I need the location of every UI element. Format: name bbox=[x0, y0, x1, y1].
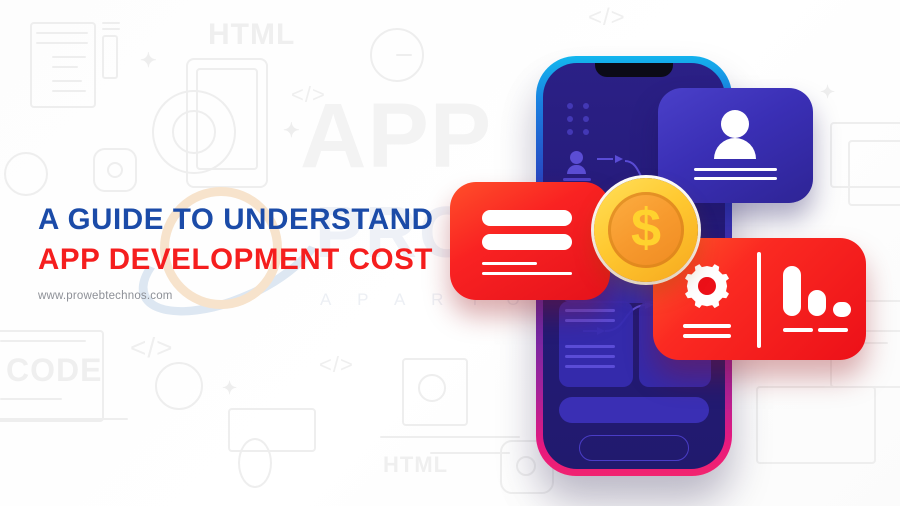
primary-button[interactable] bbox=[559, 397, 709, 423]
text-lines-icon bbox=[783, 328, 813, 332]
text-lines-icon bbox=[482, 234, 572, 250]
text-lines-icon bbox=[683, 324, 731, 328]
coin-inner-circle: $ bbox=[608, 192, 684, 268]
headline-line-primary: A GUIDE TO UNDERSTAND bbox=[38, 203, 478, 238]
banner-root: HTML CODE </> </> </> </> APP HTML bbox=[0, 0, 900, 506]
clock-icon bbox=[370, 28, 424, 82]
sparkle-icon: ✦ bbox=[222, 378, 238, 399]
text-lines-icon bbox=[818, 328, 848, 332]
code-text-icon: CODE bbox=[6, 352, 102, 389]
gear-icon bbox=[172, 110, 216, 154]
camera-icon bbox=[93, 148, 137, 192]
text-lines-icon bbox=[482, 272, 572, 275]
gear-icon bbox=[152, 90, 236, 174]
headline-block: A GUIDE TO UNDERSTAND APP DEVELOPMENT CO… bbox=[38, 203, 478, 302]
code-brackets-icon: </> bbox=[291, 82, 326, 108]
chat-bubble-icon bbox=[155, 362, 203, 410]
hand-cursor-icon bbox=[238, 438, 272, 488]
user-card-blue[interactable] bbox=[658, 88, 813, 203]
checklist-icon bbox=[30, 22, 96, 108]
html-text-icon: HTML bbox=[208, 18, 295, 52]
gear-icon bbox=[681, 260, 733, 312]
website-url[interactable]: www.prowebtechnos.com bbox=[38, 290, 478, 302]
text-lines-icon bbox=[482, 262, 537, 265]
text-lines-icon bbox=[694, 177, 777, 180]
camera-icon bbox=[418, 374, 446, 402]
html-text-icon: HTML bbox=[383, 452, 448, 478]
browser-window-icon bbox=[0, 330, 104, 422]
gear-icon bbox=[4, 152, 48, 196]
bar-chart-icon bbox=[833, 302, 851, 317]
card-divider bbox=[757, 252, 761, 348]
text-lines-icon bbox=[694, 168, 777, 171]
sparkle-icon: ✦ bbox=[140, 48, 158, 73]
secondary-button[interactable] bbox=[579, 435, 689, 461]
code-brackets-icon: </> bbox=[588, 4, 626, 32]
dollar-sign-icon: $ bbox=[631, 201, 661, 255]
dollar-coin[interactable]: $ bbox=[594, 178, 698, 282]
user-avatar-icon bbox=[714, 138, 756, 159]
user-avatar-icon bbox=[721, 110, 749, 138]
content-card-red[interactable] bbox=[450, 182, 610, 300]
sparkle-icon: ✦ bbox=[283, 118, 301, 143]
app-development-illustration: $ bbox=[450, 30, 900, 500]
text-lines-icon bbox=[683, 334, 731, 338]
pen-icon bbox=[102, 35, 118, 79]
keyboard-icon bbox=[228, 408, 316, 452]
tablet-icon bbox=[186, 58, 268, 188]
bar-chart-icon bbox=[783, 266, 801, 316]
bar-chart-icon bbox=[808, 290, 826, 316]
code-brackets-icon: </> bbox=[319, 352, 354, 378]
text-block bbox=[559, 301, 633, 387]
text-lines-icon bbox=[482, 210, 572, 226]
headline-line-accent: APP DEVELOPMENT COST bbox=[38, 243, 478, 278]
